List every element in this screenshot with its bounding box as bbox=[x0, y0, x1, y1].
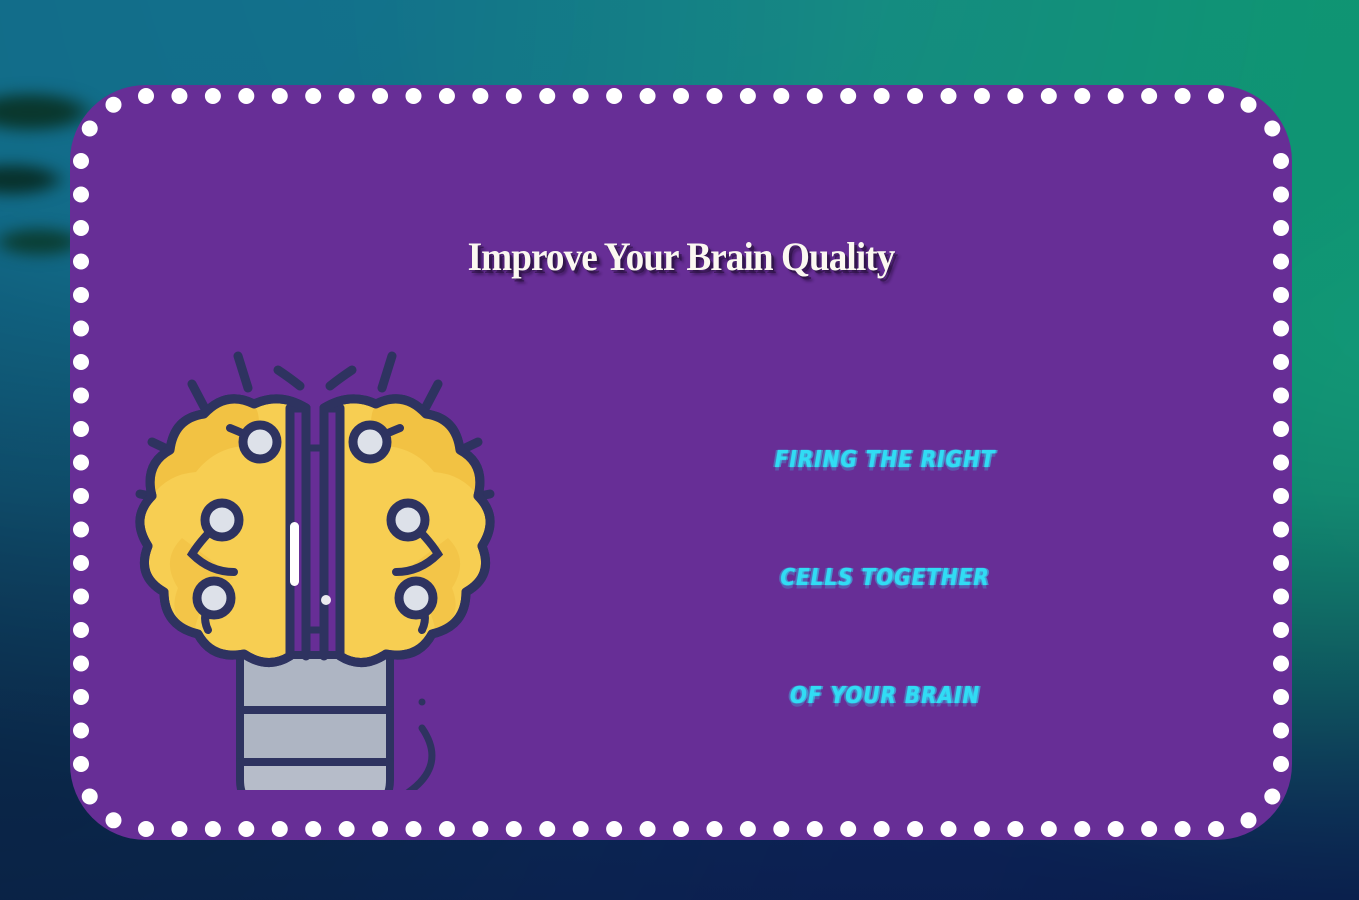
border-dot bbox=[171, 88, 187, 104]
border-dot bbox=[1208, 88, 1224, 104]
border-dot bbox=[773, 88, 789, 104]
border-dot bbox=[472, 821, 488, 837]
border-dot bbox=[73, 421, 89, 437]
border-dot bbox=[1241, 812, 1257, 828]
border-dot bbox=[706, 821, 722, 837]
border-dot bbox=[1273, 254, 1289, 270]
border-dot bbox=[974, 821, 990, 837]
border-dot bbox=[1273, 220, 1289, 236]
border-dot bbox=[138, 821, 154, 837]
border-dot bbox=[1041, 821, 1057, 837]
border-dot bbox=[73, 522, 89, 538]
border-dot bbox=[73, 555, 89, 571]
border-dot bbox=[1273, 354, 1289, 370]
border-dot bbox=[907, 821, 923, 837]
border-dot bbox=[539, 88, 555, 104]
border-dot bbox=[73, 220, 89, 236]
border-dot bbox=[472, 88, 488, 104]
slogan-block: FIRING THE RIGHT CELLS TOGETHER OF YOUR … bbox=[490, 400, 1280, 754]
ray-icon bbox=[278, 370, 300, 386]
border-dot bbox=[1273, 153, 1289, 169]
border-dot bbox=[73, 388, 89, 404]
border-dot bbox=[73, 656, 89, 672]
border-dot bbox=[573, 88, 589, 104]
glow-highlight bbox=[290, 522, 299, 586]
border-dot bbox=[406, 821, 422, 837]
swoosh-icon bbox=[406, 699, 432, 791]
border-dot bbox=[941, 821, 957, 837]
border-dot bbox=[73, 756, 89, 772]
border-dot bbox=[673, 821, 689, 837]
border-dot bbox=[1208, 821, 1224, 837]
border-dot bbox=[773, 821, 789, 837]
border-dot bbox=[439, 821, 455, 837]
border-dot bbox=[82, 121, 98, 137]
border-dot bbox=[1241, 97, 1257, 113]
border-dot bbox=[706, 88, 722, 104]
border-dot bbox=[1273, 187, 1289, 203]
border-dot bbox=[406, 88, 422, 104]
border-dot bbox=[606, 821, 622, 837]
border-dot bbox=[73, 723, 89, 739]
border-dot bbox=[73, 153, 89, 169]
border-dot bbox=[1273, 287, 1289, 303]
brain-shape bbox=[140, 399, 490, 663]
border-dot bbox=[1007, 821, 1023, 837]
border-dot bbox=[138, 88, 154, 104]
border-dot bbox=[1273, 321, 1289, 337]
border-dot bbox=[1074, 821, 1090, 837]
border-dot bbox=[305, 821, 321, 837]
border-dot bbox=[640, 88, 656, 104]
border-dot bbox=[73, 455, 89, 471]
poster-card: Improve Your Brain Quality bbox=[70, 85, 1292, 840]
border-dot bbox=[82, 789, 98, 805]
slogan-line-1: FIRING THE RIGHT bbox=[490, 392, 1280, 527]
border-dot bbox=[1264, 121, 1280, 137]
border-dot bbox=[73, 321, 89, 337]
border-dot bbox=[506, 88, 522, 104]
border-dot bbox=[974, 88, 990, 104]
border-dot bbox=[807, 821, 823, 837]
border-dot bbox=[1108, 821, 1124, 837]
slogan-line-3: OF YOUR BRAIN bbox=[490, 628, 1280, 763]
border-dot bbox=[106, 812, 122, 828]
border-dot bbox=[439, 88, 455, 104]
bulb-base bbox=[240, 655, 390, 790]
border-dot bbox=[1074, 88, 1090, 104]
border-dot bbox=[205, 88, 221, 104]
border-dot bbox=[1108, 88, 1124, 104]
border-dot bbox=[1007, 88, 1023, 104]
border-dot bbox=[941, 88, 957, 104]
slogan-line-2: CELLS TOGETHER bbox=[490, 510, 1280, 645]
ray-icon bbox=[238, 356, 248, 388]
border-dot bbox=[73, 354, 89, 370]
border-dot bbox=[372, 88, 388, 104]
page-title: Improve Your Brain Quality bbox=[113, 237, 1249, 277]
border-dot bbox=[573, 821, 589, 837]
border-dot bbox=[874, 821, 890, 837]
border-dot bbox=[1141, 821, 1157, 837]
border-dot bbox=[272, 88, 288, 104]
border-dot bbox=[673, 88, 689, 104]
poster-canvas: Improve Your Brain Quality bbox=[0, 0, 1359, 900]
border-dot bbox=[1041, 88, 1057, 104]
border-dot bbox=[73, 187, 89, 203]
border-dot bbox=[73, 254, 89, 270]
border-dot bbox=[305, 88, 321, 104]
border-dot bbox=[1141, 88, 1157, 104]
border-dot bbox=[539, 821, 555, 837]
border-dot bbox=[73, 589, 89, 605]
border-dot bbox=[1175, 88, 1191, 104]
border-dot bbox=[840, 821, 856, 837]
ray-icon bbox=[330, 370, 352, 386]
border-dot bbox=[740, 88, 756, 104]
border-dot bbox=[339, 821, 355, 837]
brain-lightbulb-icon bbox=[130, 330, 500, 790]
border-dot bbox=[907, 88, 923, 104]
border-dot bbox=[73, 622, 89, 638]
border-dot bbox=[372, 821, 388, 837]
border-dot bbox=[73, 689, 89, 705]
border-dot bbox=[807, 88, 823, 104]
border-dot bbox=[740, 821, 756, 837]
border-dot bbox=[238, 88, 254, 104]
border-dot bbox=[73, 287, 89, 303]
border-dot bbox=[205, 821, 221, 837]
ray-icon bbox=[382, 356, 392, 388]
border-dot bbox=[238, 821, 254, 837]
border-dot bbox=[171, 821, 187, 837]
border-dot bbox=[874, 88, 890, 104]
border-dot bbox=[339, 88, 355, 104]
border-dot bbox=[1264, 789, 1280, 805]
border-dot bbox=[640, 821, 656, 837]
border-dot bbox=[506, 821, 522, 837]
border-dot bbox=[272, 821, 288, 837]
border-dot bbox=[73, 488, 89, 504]
border-dot bbox=[1175, 821, 1191, 837]
border-dot bbox=[106, 97, 122, 113]
glow-dot bbox=[321, 595, 331, 605]
border-dot bbox=[840, 88, 856, 104]
border-dot bbox=[606, 88, 622, 104]
